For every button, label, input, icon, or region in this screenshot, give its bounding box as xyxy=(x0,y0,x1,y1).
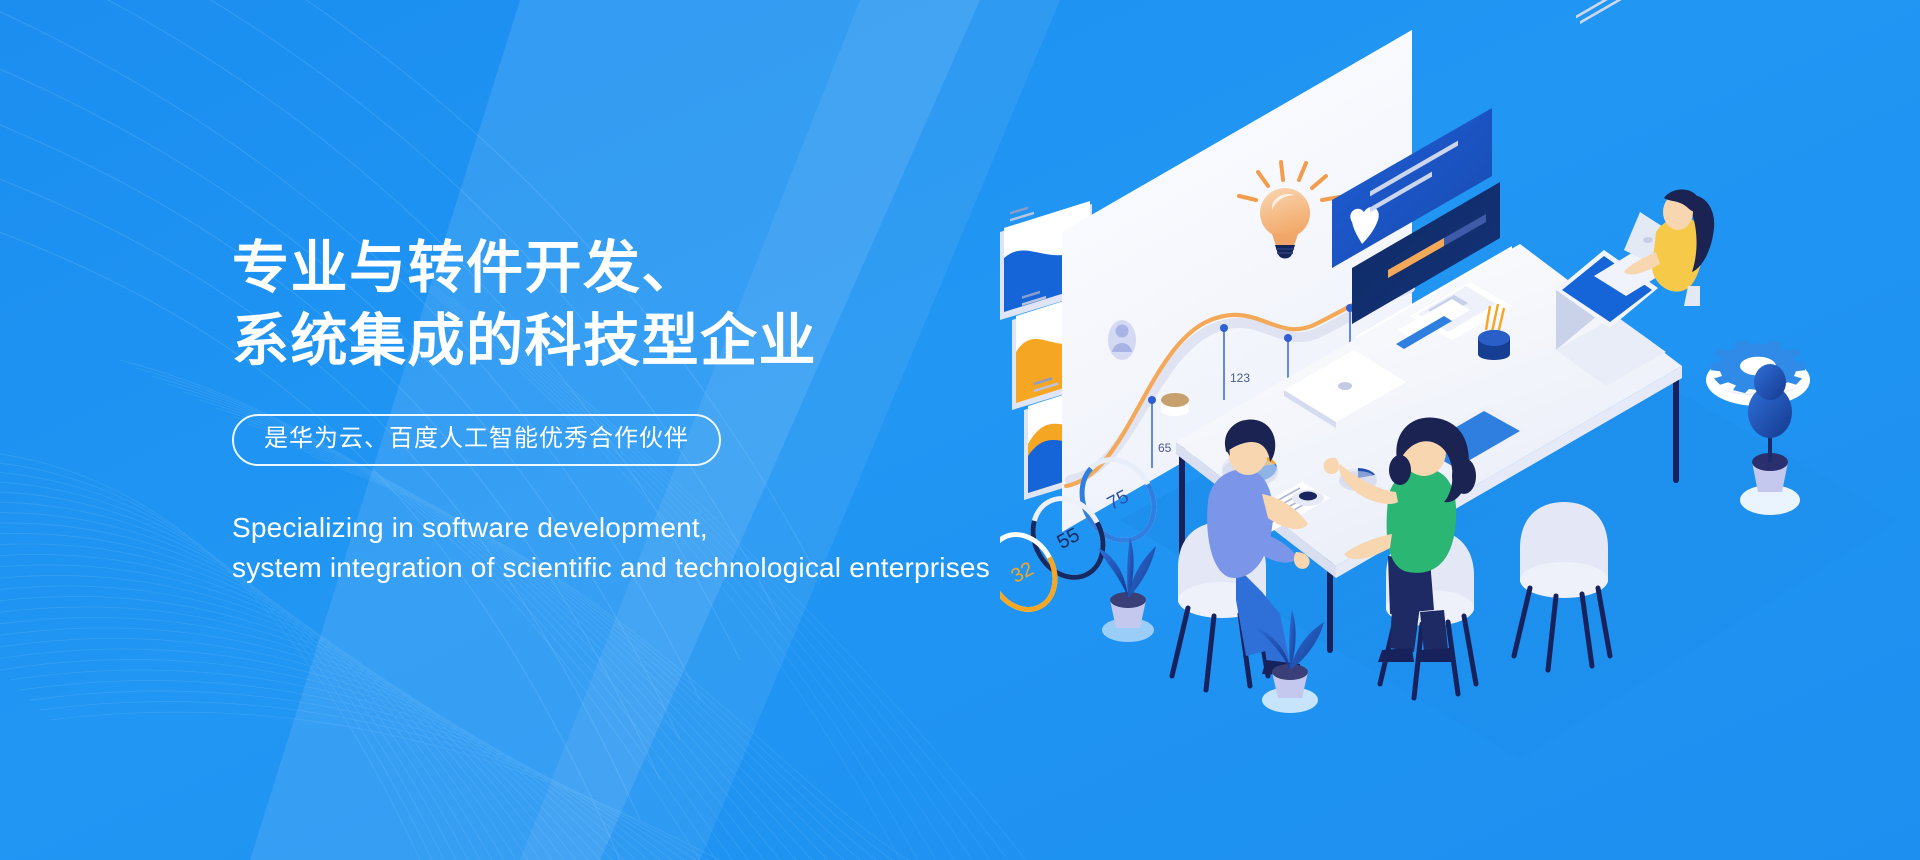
headline-line-2: 系统集成的科技型企业 xyxy=(232,305,1182,378)
subtitle-line-1: Specializing in software development, xyxy=(232,508,1182,548)
hero-banner: 专业与转件开发、 系统集成的科技型企业 是华为云、百度人工智能优秀合作伙伴 Sp… xyxy=(0,0,1920,860)
chart-label-1: 123 xyxy=(1230,371,1250,385)
coffee-saucer xyxy=(1292,490,1324,506)
desktop-monitor xyxy=(1556,0,1666,386)
hero-subtitle: Specializing in software development, sy… xyxy=(232,508,1182,588)
page-title: 专业与转件开发、 系统集成的科技型企业 xyxy=(232,232,1182,378)
headline-line-1: 专业与转件开发、 xyxy=(232,232,1182,305)
hero-text-block: 专业与转件开发、 系统集成的科技型企业 是华为云、百度人工智能优秀合作伙伴 Sp… xyxy=(232,232,1182,587)
partner-badge: 是华为云、百度人工智能优秀合作伙伴 xyxy=(232,414,721,466)
subtitle-line-2: system integration of scientific and tec… xyxy=(232,548,1182,588)
